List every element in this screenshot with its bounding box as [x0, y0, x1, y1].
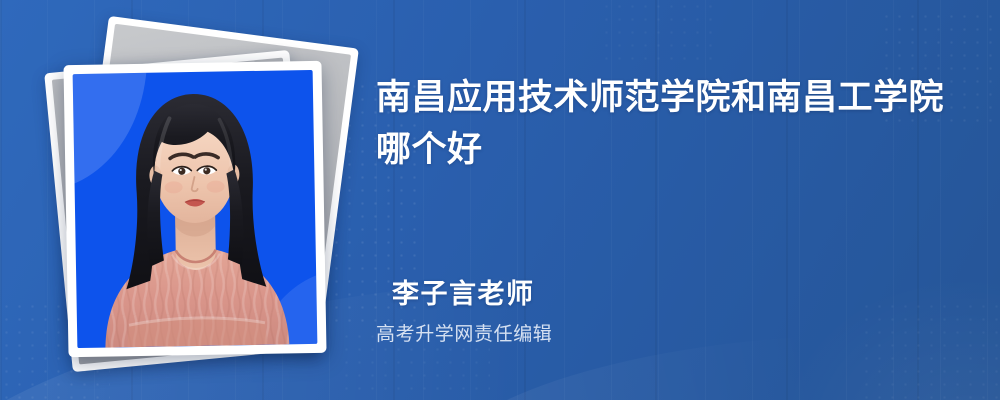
photo-card-front: [63, 61, 326, 357]
avatar: [73, 70, 318, 348]
photo-card-stack: [40, 35, 350, 355]
banner-text-block: 南昌应用技术师范学院和南昌工学院哪个好 李子言老师 高考升学网责任编辑: [376, 0, 976, 400]
banner-stage: 南昌应用技术师范学院和南昌工学院哪个好 李子言老师 高考升学网责任编辑: [0, 0, 1000, 400]
author-role: 高考升学网责任编辑: [376, 319, 552, 346]
page-title: 南昌应用技术师范学院和南昌工学院哪个好: [376, 72, 961, 176]
author-name: 李子言老师: [392, 272, 535, 311]
author-photo: [73, 70, 318, 348]
